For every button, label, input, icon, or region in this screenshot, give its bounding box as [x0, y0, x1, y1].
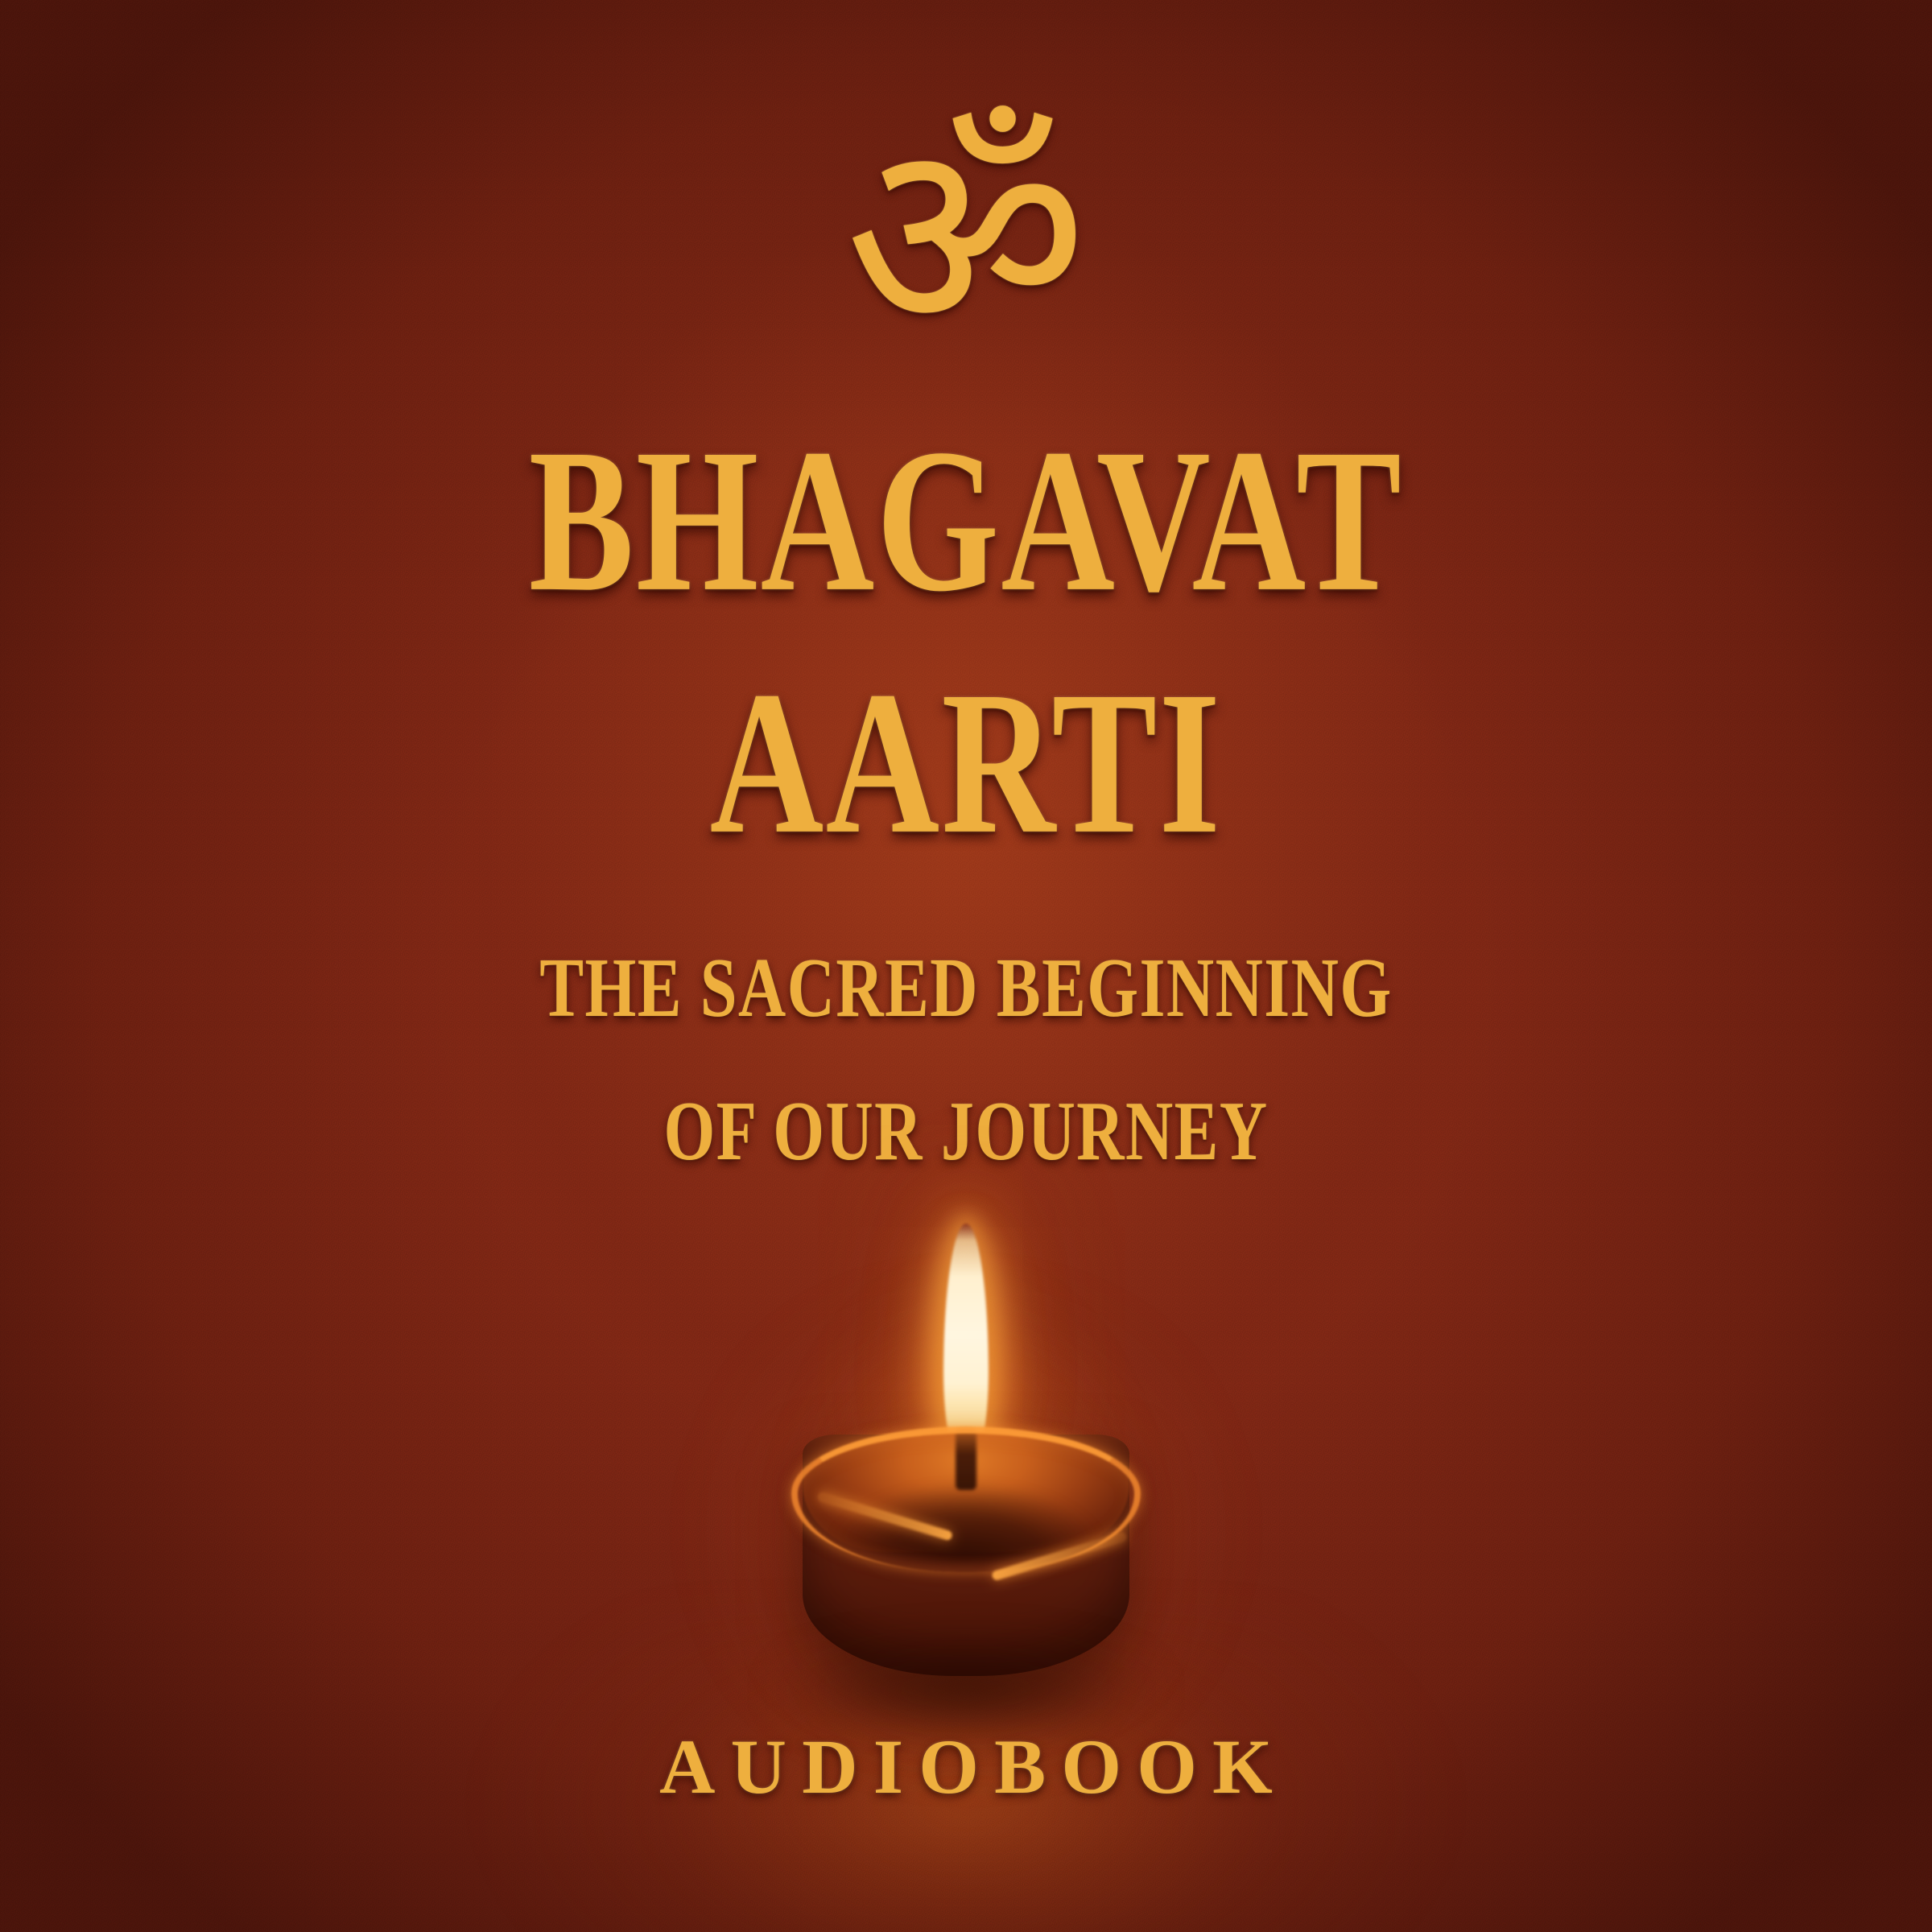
subtitle-line-2: OF OUR JOURNEY	[0, 1089, 1932, 1174]
diya-lamp-illustration	[660, 1224, 1272, 1787]
cover-subtitle: THE SACRED BEGINNING OF OUR JOURNEY	[0, 946, 1932, 1155]
title-line-primary: BHAGAVAT	[0, 419, 1932, 624]
title-line-secondary: AARTI	[0, 661, 1932, 866]
subtitle-line-1: THE SACRED BEGINNING	[0, 946, 1932, 1030]
format-label: AUDIOBOOK	[644, 1723, 1288, 1811]
format-label-container: AUDIOBOOK	[0, 1723, 1932, 1811]
cover-content: ॐ BHAGAVAT AARTI THE SACRED BEGINNING OF…	[0, 0, 1932, 1932]
om-symbol-container: ॐ	[0, 105, 1932, 370]
om-icon: ॐ	[0, 105, 1932, 370]
cover-title: BHAGAVAT AARTI	[0, 419, 1932, 819]
audiobook-cover: ॐ BHAGAVAT AARTI THE SACRED BEGINNING OF…	[0, 0, 1932, 1932]
